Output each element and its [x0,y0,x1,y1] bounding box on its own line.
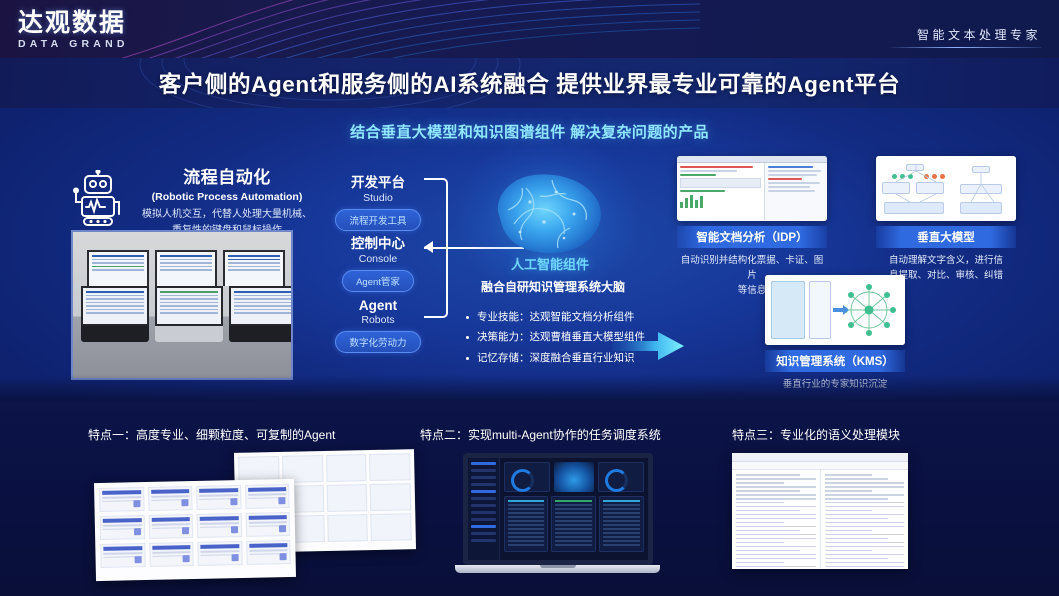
brand-logo-cn: 达观数据 [18,10,129,36]
slide-header: 达观数据 DATA GRAND 智能文本处理专家 [0,0,1059,58]
document-pane-left [732,470,821,568]
list-item: 专业技能：达观智能文档分析组件 [466,307,686,327]
features-section: 特点一：高度专业、细颗粒度、可复制的Agent 特点二：实现multi-Agen… [0,401,1059,596]
knowledge-graph-icon [765,275,905,345]
capability-title: Agent [318,298,438,313]
decorative-graph-lines [876,156,1016,221]
dashboard-sidebar [468,458,500,560]
ai-core-label: 人工智能组件 [470,254,630,273]
rpa-english: (Robotic Process Automation) [112,191,342,203]
feature-image-scheduler-laptop [455,453,660,583]
feature-label-1: 特点一：高度专业、细颗粒度、可复制的Agent [88,426,335,443]
capability-pill: Agent管家 [342,270,414,292]
capability-english: Console [318,253,438,265]
feature-image-agent-collage [95,451,385,581]
capability-item-agent: Agent Robots 数字化劳动力 [318,298,438,353]
feature-image-semantic-document [732,453,908,569]
slide: 达观数据 DATA GRAND 智能文本处理专家 客户侧的Agent和服务侧的A… [0,0,1059,596]
center-cube-graphic [554,462,594,492]
capability-pill: 流程开发工具 [335,209,420,231]
laptop-base [455,565,660,573]
gauge-right [598,462,644,492]
gauge-left [504,462,550,492]
title-bar: 客户侧的Agent和服务侧的AI系统融合 提供业界最专业可靠的Agent平台 [0,58,1059,108]
laptop-screen [463,453,653,565]
collage-sheet-front [94,479,296,581]
product-caption-line1: 自动理解文字含义，进行信 [889,255,1003,266]
rpa-laptops-photo [71,230,293,380]
capability-item-console: 控制中心 Console Agent管家 [318,232,438,292]
product-card-kms: 知识管理系统（KMS） 垂直行业的专家知识沉淀 [765,275,905,392]
feature-label-2: 特点二：实现multi-Agent协作的任务调度系统 [420,426,661,443]
flow-arrow-icon [612,330,684,362]
page-title: 客户侧的Agent和服务侧的AI系统融合 提供业界最专业可靠的Agent平台 [159,67,901,99]
header-tagline: 智能文本处理专家 [886,26,1041,43]
product-screenshot-idp [677,156,827,221]
product-caption-line2: 等信息 [738,285,767,296]
feature-label-3: 特点三：专业化的语义处理模块 [732,426,900,443]
product-tag-idp: 智能文档分析（IDP） [677,226,827,248]
product-screenshot-vertical-llm [876,156,1016,221]
tagline-underline [886,47,1041,48]
rpa-desc-line1: 模拟人机交互，代替人处理大量机械、 [142,209,312,220]
brand-logo: 达观数据 DATA GRAND [18,10,129,50]
product-tag-vertical-llm: 垂直大模型 [876,226,1016,248]
capability-english: Robots [318,314,438,326]
dashboard-card [504,496,549,552]
ai-core-subtitle: 融合自研知识管理系统大脑 [448,278,658,295]
capability-english: Studio [318,192,438,204]
dashboard-card [551,496,596,552]
capability-title: 开发平台 [318,171,438,191]
capability-title: 控制中心 [318,232,438,252]
document-pane-right [821,470,909,568]
content-band: 结合垂直大模型和知识图谱组件 解决复杂问题的产品 流程自动化 (Robotic … [0,108,1059,401]
product-card-vertical-llm: 垂直大模型 自动理解文字含义，进行信 息提取、对比、审核、纠错 [876,156,1016,283]
product-tag-kms: 知识管理系统（KMS） [765,350,905,372]
rpa-title: 流程自动化 [112,163,342,188]
brand-logo-en: DATA GRAND [18,38,129,50]
product-screenshot-kms [765,275,905,345]
product-caption-line1: 垂直行业的专家知识沉淀 [783,379,888,390]
capability-pill: 数字化劳动力 [335,331,420,353]
product-caption-line2: 息提取、对比、审核、纠错 [889,270,1003,281]
capability-item-studio: 开发平台 Studio 流程开发工具 [318,171,438,231]
header-tagline-block: 智能文本处理专家 [886,26,1041,48]
dashboard-card [599,496,644,552]
rpa-heading-block: 流程自动化 (Robotic Process Automation) 模拟人机交… [112,163,342,238]
bracket-arrow-icon [424,241,433,253]
